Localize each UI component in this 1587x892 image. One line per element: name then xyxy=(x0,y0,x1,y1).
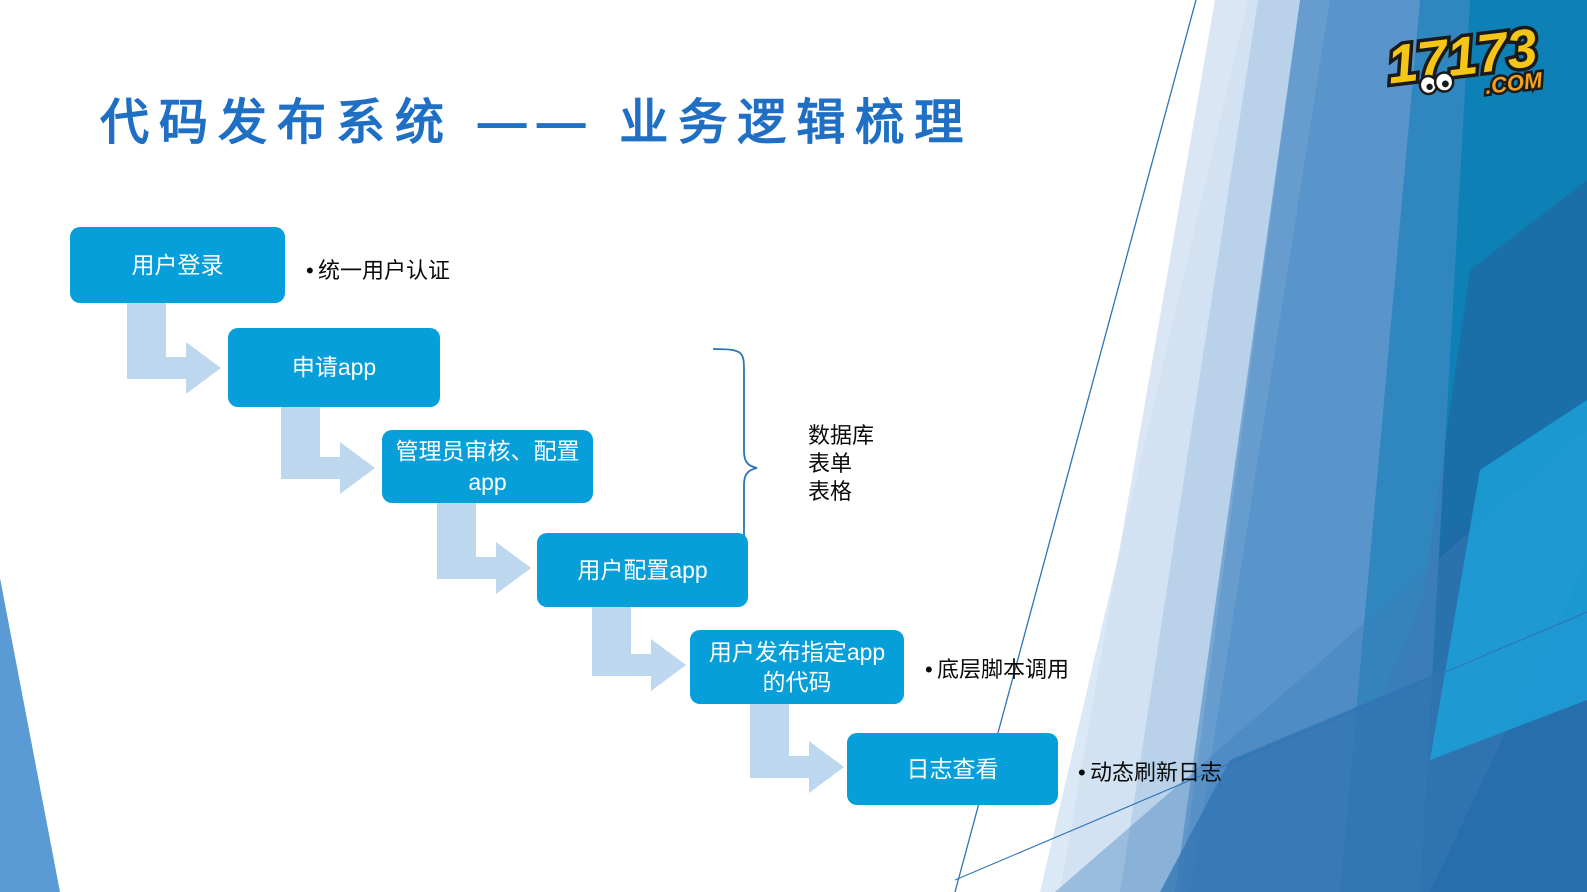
note-script-call: •底层脚本调用 xyxy=(925,652,1069,684)
arrow-config-to-publish xyxy=(592,607,686,691)
flow-box-admin-review[interactable]: 管理员审核、配置app xyxy=(382,430,593,503)
bullet-glyph-log: • xyxy=(1078,760,1090,786)
arrow-review-to-config xyxy=(437,503,531,594)
flow-box-user-publish-label: 用户发布指定app的代码 xyxy=(700,637,894,698)
right-base-dark xyxy=(1180,0,1587,892)
brace-label: 数据库 表单 表格 xyxy=(808,422,874,506)
flow-box-apply-app[interactable]: 申请app xyxy=(228,328,440,407)
note-unified-auth: •统一用户认证 xyxy=(306,253,450,285)
lower-triangle-a xyxy=(1160,610,1587,892)
flow-box-log-view-label: 日志查看 xyxy=(907,754,999,784)
flow-box-login[interactable]: 用户登录 xyxy=(70,227,285,303)
flow-box-admin-review-label: 管理员审核、配置app xyxy=(392,436,583,497)
flow-box-log-view[interactable]: 日志查看 xyxy=(847,733,1058,805)
page-title: 代码发布系统 —— 业务逻辑梳理 xyxy=(100,83,973,154)
flow-box-apply-app-label: 申请app xyxy=(292,352,376,382)
bullet-glyph-auth: • xyxy=(306,258,318,284)
flow-box-login-label: 用户登录 xyxy=(132,250,224,280)
right-deep-block xyxy=(1380,180,1587,892)
17173-logo: 17173 .COM xyxy=(1382,18,1554,108)
arrow-login-to-apply xyxy=(127,303,221,394)
lower-triangle-b xyxy=(1055,430,1587,892)
note-unified-auth-label: 统一用户认证 xyxy=(318,258,450,283)
flow-box-user-publish[interactable]: 用户发布指定app的代码 xyxy=(690,630,904,704)
arrow-publish-to-log xyxy=(750,704,844,793)
flow-box-user-config[interactable]: 用户配置app xyxy=(537,533,748,607)
note-log-refresh-label: 动态刷新日志 xyxy=(1090,760,1222,785)
note-script-call-label: 底层脚本调用 xyxy=(937,657,1069,682)
flow-box-user-config-label: 用户配置app xyxy=(577,555,707,585)
right-base-teal xyxy=(1330,0,1587,892)
right-lower-block xyxy=(1300,520,1587,892)
note-log-refresh: •动态刷新日志 xyxy=(1078,755,1222,787)
mid-sheet-b xyxy=(1190,0,1470,892)
slide-canvas: 代码发布系统 —— 业务逻辑梳理 17173 .COM 用户登录 xyxy=(0,0,1587,892)
lower-triangle-c xyxy=(1430,400,1587,760)
arrow-apply-to-review xyxy=(281,407,375,494)
left-wedge xyxy=(0,578,60,892)
bullet-glyph-script: • xyxy=(925,657,937,683)
